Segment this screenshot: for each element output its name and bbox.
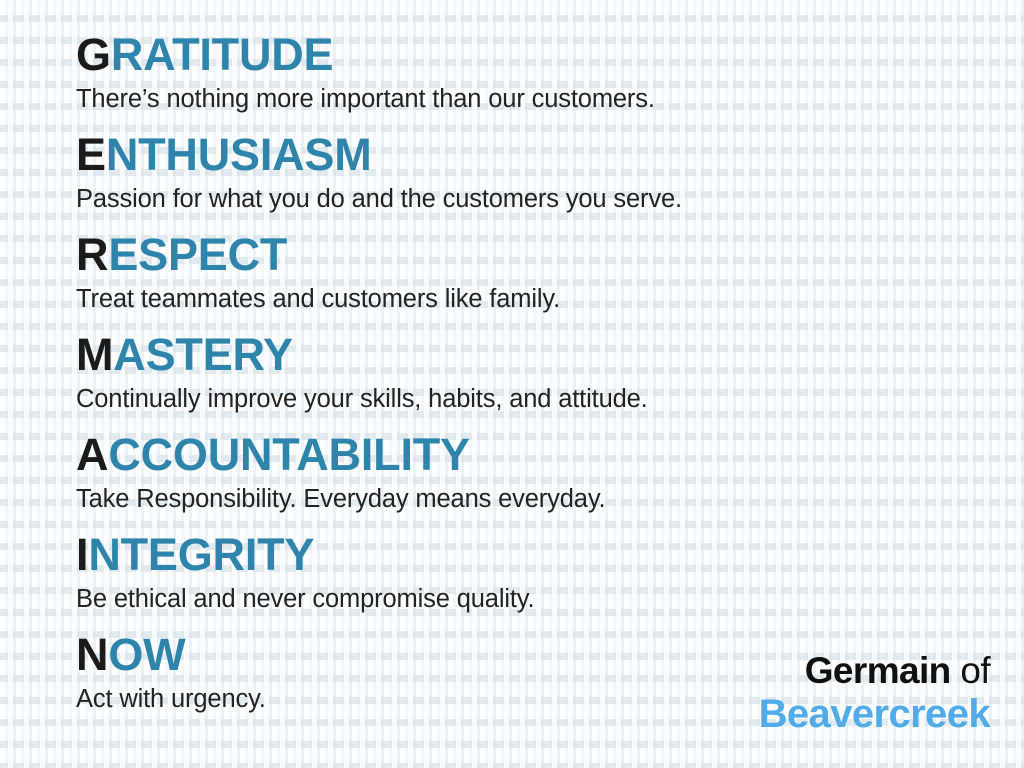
- value-heading-rest: NTHUSIASM: [106, 129, 372, 180]
- value-heading-rest: RATITUDE: [111, 29, 334, 80]
- value-heading-rest: NTEGRITY: [88, 529, 314, 580]
- value-heading: ENTHUSIASM: [76, 130, 1024, 180]
- value-block-enthusiasm: ENTHUSIASM Passion for what you do and t…: [76, 130, 1024, 230]
- logo-location: Beavercreek: [759, 692, 990, 736]
- value-initial-letter: G: [76, 29, 111, 80]
- value-description: Be ethical and never compromise quality.: [76, 580, 1024, 616]
- value-description: Passion for what you do and the customer…: [76, 180, 1024, 216]
- value-heading: ACCOUNTABILITY: [76, 430, 1024, 480]
- value-initial-letter: E: [76, 129, 106, 180]
- value-block-integrity: INTEGRITY Be ethical and never compromis…: [76, 530, 1024, 630]
- value-block-accountability: ACCOUNTABILITY Take Responsibility. Ever…: [76, 430, 1024, 530]
- value-heading-rest: ESPECT: [108, 229, 287, 280]
- value-description: There’s nothing more important than our …: [76, 80, 1024, 116]
- value-heading-rest: ASTERY: [113, 329, 293, 380]
- value-description: Treat teammates and customers like famil…: [76, 280, 1024, 316]
- value-block-gratitude: GRATITUDE There’s nothing more important…: [76, 30, 1024, 130]
- logo-brand-name: Germain: [805, 650, 951, 691]
- value-description: Take Responsibility. Everyday means ever…: [76, 480, 1024, 516]
- value-block-mastery: MASTERY Continually improve your skills,…: [76, 330, 1024, 430]
- value-block-respect: RESPECT Treat teammates and customers li…: [76, 230, 1024, 330]
- values-list: GRATITUDE There’s nothing more important…: [0, 0, 1024, 730]
- value-initial-letter: A: [76, 429, 108, 480]
- logo-connector: of: [951, 650, 990, 691]
- value-initial-letter: M: [76, 329, 113, 380]
- value-initial-letter: N: [76, 629, 108, 680]
- value-initial-letter: R: [76, 229, 108, 280]
- logo-brand-line: Germain of: [759, 650, 990, 692]
- value-heading: GRATITUDE: [76, 30, 1024, 80]
- value-heading: INTEGRITY: [76, 530, 1024, 580]
- value-heading: MASTERY: [76, 330, 1024, 380]
- values-poster: GRATITUDE There’s nothing more important…: [0, 0, 1024, 768]
- value-description: Continually improve your skills, habits,…: [76, 380, 1024, 416]
- value-heading: RESPECT: [76, 230, 1024, 280]
- value-heading-rest: CCOUNTABILITY: [108, 429, 470, 480]
- value-initial-letter: I: [76, 529, 88, 580]
- value-heading-rest: OW: [108, 629, 185, 680]
- dealership-logo: Germain of Beavercreek: [759, 650, 990, 736]
